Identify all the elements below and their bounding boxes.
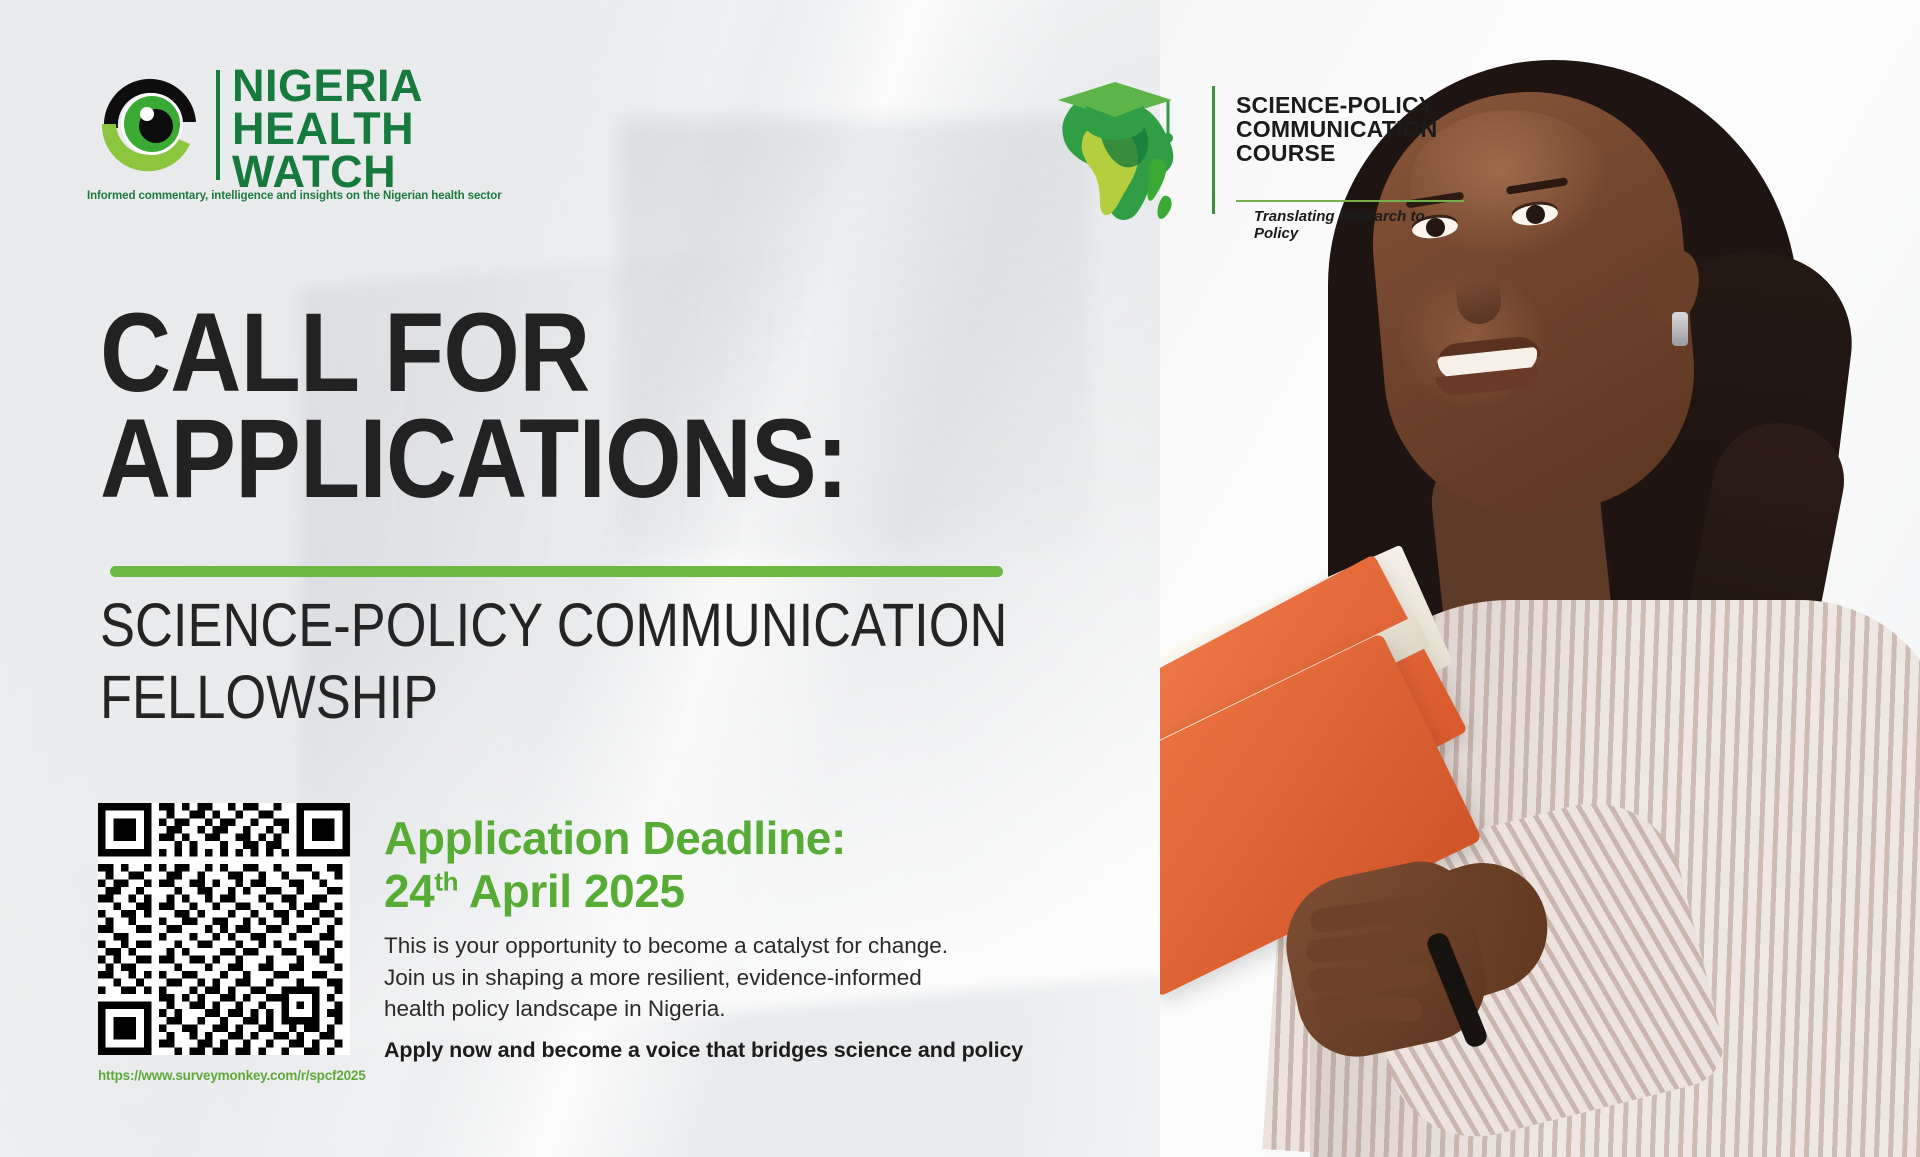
accent-rule bbox=[110, 566, 1003, 577]
logo-line-2: HEALTH bbox=[232, 107, 423, 150]
course-logo-line-1: SCIENCE-POLICY bbox=[1236, 94, 1437, 118]
page-title: CALL FOR APPLICATIONS: bbox=[100, 300, 1200, 513]
body-line-3: health policy landscape in Nigeria. bbox=[384, 993, 1004, 1025]
science-policy-course-logo: SCIENCE-POLICY COMMUNICATION COURSE Tran… bbox=[1040, 68, 1460, 228]
earring-icon bbox=[1672, 312, 1688, 346]
call-to-action-text: Apply now and become a voice that bridge… bbox=[384, 1038, 1084, 1063]
body-line-2: Join us in shaping a more resilient, evi… bbox=[384, 962, 1004, 994]
deadline-date: 24th April 2025 bbox=[384, 865, 1084, 918]
course-logo-wordmark: SCIENCE-POLICY COMMUNICATION COURSE bbox=[1236, 94, 1437, 166]
eye-icon bbox=[94, 66, 206, 178]
pupil-right bbox=[1526, 205, 1545, 224]
nigeria-health-watch-logo: NIGERIA HEALTH WATCH Informed commentary… bbox=[86, 58, 426, 218]
deadline-block: Application Deadline: 24th April 2025 bbox=[384, 812, 1084, 919]
qr-code-icon[interactable] bbox=[98, 803, 350, 1055]
logo-wordmark: NIGERIA HEALTH WATCH bbox=[232, 64, 423, 194]
body-copy: This is your opportunity to become a cat… bbox=[384, 930, 1004, 1025]
course-logo-divider bbox=[1212, 86, 1215, 214]
logo-divider bbox=[216, 70, 220, 180]
headline-line-1: CALL FOR bbox=[100, 300, 1068, 406]
deadline-ordinal: th bbox=[434, 867, 458, 897]
page-subtitle: SCIENCE-POLICY COMMUNICATION FELLOWSHIP bbox=[100, 590, 1250, 734]
deadline-label: Application Deadline: bbox=[384, 812, 1084, 865]
headline-line-2: APPLICATIONS: bbox=[100, 406, 1068, 512]
logo-tagline: Informed commentary, intelligence and in… bbox=[87, 190, 427, 202]
subtitle-line-2: FELLOWSHIP bbox=[100, 662, 1089, 734]
finger bbox=[1316, 994, 1423, 1022]
subtitle-line-1: SCIENCE-POLICY COMMUNICATION bbox=[100, 590, 1089, 662]
qr-code-matrix bbox=[98, 803, 350, 1055]
course-logo-line-2: COMMUNICATION bbox=[1236, 118, 1437, 142]
logo-line-1: NIGERIA bbox=[232, 64, 423, 107]
deadline-month-year: April 2025 bbox=[469, 865, 685, 917]
deadline-day: 24 bbox=[384, 865, 434, 917]
application-url[interactable]: https://www.surveymonkey.com/r/spcf2025 bbox=[98, 1068, 398, 1083]
body-line-1: This is your opportunity to become a cat… bbox=[384, 930, 1004, 962]
africa-graduation-cap-icon bbox=[1040, 74, 1190, 224]
logo-line-3: WATCH bbox=[232, 150, 423, 193]
course-logo-line-3: COURSE bbox=[1236, 142, 1437, 166]
course-logo-tagline: Translating Research to Policy bbox=[1254, 208, 1460, 242]
course-logo-rule bbox=[1236, 200, 1464, 202]
poster-canvas: NIGERIA HEALTH WATCH Informed commentary… bbox=[0, 0, 1920, 1157]
